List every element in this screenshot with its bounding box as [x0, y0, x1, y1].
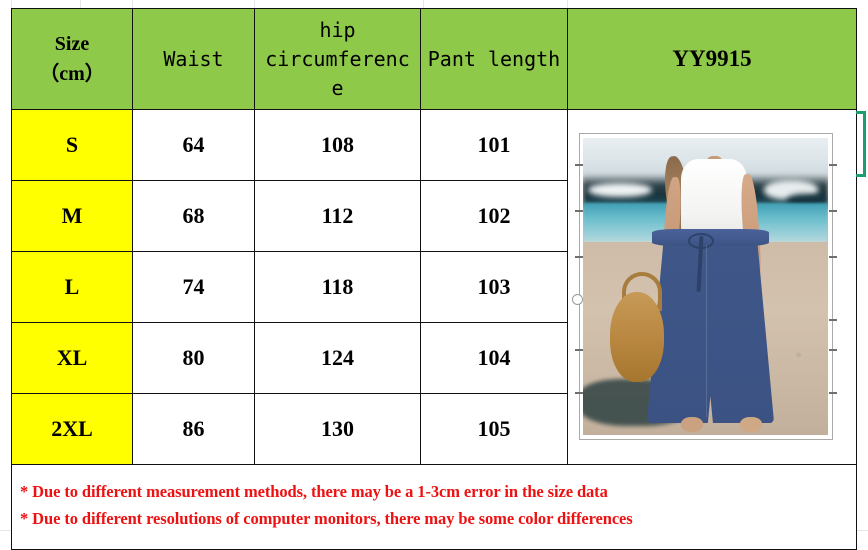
- rotate-handle-icon[interactable]: [572, 294, 583, 305]
- header-cell-waist: Waist: [133, 9, 255, 110]
- table-header-row: Size （cm） Waist hip circumference Pant l…: [12, 9, 857, 110]
- product-photo-frame[interactable]: [579, 133, 833, 440]
- cell-length: 103: [421, 252, 568, 323]
- resize-handle-icon[interactable]: [575, 256, 583, 258]
- header-cell-style-code: YY9915: [568, 9, 857, 110]
- header-size-line1: Size: [12, 29, 132, 59]
- cell-waist: 86: [133, 394, 255, 465]
- footnote-line: * Due to different resolutions of comput…: [20, 506, 848, 533]
- table-row: S 64 108 101: [12, 110, 857, 181]
- resize-handle-icon[interactable]: [829, 256, 837, 258]
- cell-size: L: [12, 252, 133, 323]
- cell-length: 102: [421, 181, 568, 252]
- selection-bracket-indicator[interactable]: [856, 111, 866, 177]
- header-cell-pant-length: Pant length: [421, 9, 568, 110]
- cell-size: 2XL: [12, 394, 133, 465]
- footnote-cell: * Due to different measurement methods, …: [12, 465, 857, 550]
- header-waist-label: Waist: [133, 45, 254, 74]
- cell-length: 101: [421, 110, 568, 181]
- cell-hip: 130: [255, 394, 421, 465]
- cell-size: M: [12, 181, 133, 252]
- photo-white-top: [681, 159, 747, 236]
- cell-waist: 68: [133, 181, 255, 252]
- table-footnote-row: * Due to different measurement methods, …: [12, 465, 857, 550]
- resize-handle-icon[interactable]: [575, 210, 583, 212]
- photo-pants-crease: [706, 245, 707, 417]
- product-photo: [583, 138, 828, 435]
- resize-handle-icon[interactable]: [575, 349, 583, 351]
- header-size-line2: （cm）: [12, 59, 132, 89]
- footnote-line: * Due to different measurement methods, …: [20, 479, 848, 506]
- header-cell-size: Size （cm）: [12, 9, 133, 110]
- resize-handle-icon[interactable]: [829, 319, 837, 321]
- product-image-cell[interactable]: [568, 110, 857, 465]
- photo-model-foot-right: [740, 417, 762, 432]
- header-cell-hip: hip circumference: [255, 9, 421, 110]
- cell-size: XL: [12, 323, 133, 394]
- cell-hip: 112: [255, 181, 421, 252]
- resize-handle-icon[interactable]: [829, 210, 837, 212]
- cell-length: 105: [421, 394, 568, 465]
- cell-waist: 74: [133, 252, 255, 323]
- resize-handle-icon[interactable]: [829, 164, 837, 166]
- style-code-label: YY9915: [568, 46, 856, 72]
- resize-handle-icon[interactable]: [829, 349, 837, 351]
- cell-hip: 124: [255, 323, 421, 394]
- cell-waist: 64: [133, 110, 255, 181]
- header-hip-label: hip circumference: [255, 16, 420, 103]
- cell-waist: 80: [133, 323, 255, 394]
- photo-boat-icon: [588, 183, 652, 198]
- photo-straw-bag: [610, 292, 664, 381]
- photo-navy-pants: [647, 230, 774, 423]
- size-chart-table: Size （cm） Waist hip circumference Pant l…: [11, 8, 857, 550]
- cell-size: S: [12, 110, 133, 181]
- resize-handle-icon[interactable]: [575, 392, 583, 394]
- photo-model-foot-left: [681, 417, 703, 432]
- size-chart-container: Size （cm） Waist hip circumference Pant l…: [11, 8, 856, 550]
- cell-hip: 118: [255, 252, 421, 323]
- cell-hip: 108: [255, 110, 421, 181]
- resize-handle-icon[interactable]: [829, 392, 837, 394]
- cell-length: 104: [421, 323, 568, 394]
- header-pant-length-label: Pant length: [421, 45, 567, 74]
- resize-handle-icon[interactable]: [575, 164, 583, 166]
